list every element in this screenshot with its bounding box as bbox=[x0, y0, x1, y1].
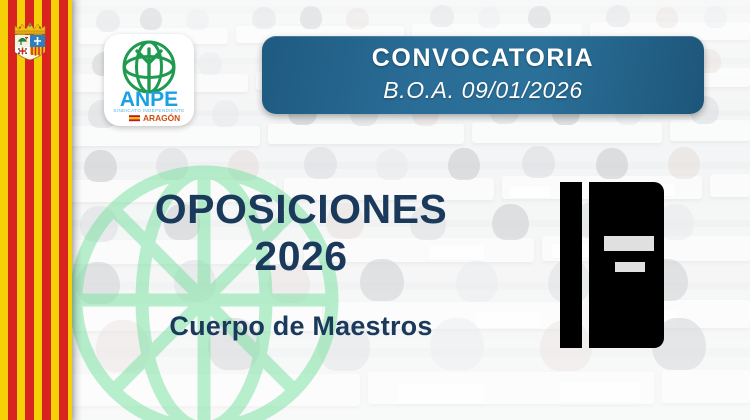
headline-block: OPOSICIONES 2026 Cuerpo de Maestros bbox=[86, 188, 516, 342]
flag-shadow bbox=[72, 0, 82, 420]
banner-subtitle: B.O.A. 09/01/2026 bbox=[383, 76, 582, 105]
headline-line-2: 2026 bbox=[86, 231, 516, 282]
book-icon bbox=[556, 174, 668, 352]
anpe-region: ARAGÓN bbox=[143, 112, 180, 123]
aragon-flag bbox=[0, 0, 72, 420]
anpe-logo-card: ANPE SINDICATO INDEPENDIENTE ARAGÓN bbox=[104, 34, 194, 126]
spain-flag-icon bbox=[129, 115, 140, 121]
headline-line-3: Cuerpo de Maestros bbox=[86, 311, 516, 342]
headline-line-1: OPOSICIONES bbox=[86, 188, 516, 231]
banner-title: CONVOCATORIA bbox=[372, 45, 594, 73]
aragon-coat-of-arms-icon bbox=[9, 21, 51, 61]
convocatoria-banner: CONVOCATORIA B.O.A. 09/01/2026 bbox=[262, 36, 704, 114]
poster: ANPE SINDICATO INDEPENDIENTE ARAGÓN CONV… bbox=[0, 0, 750, 420]
